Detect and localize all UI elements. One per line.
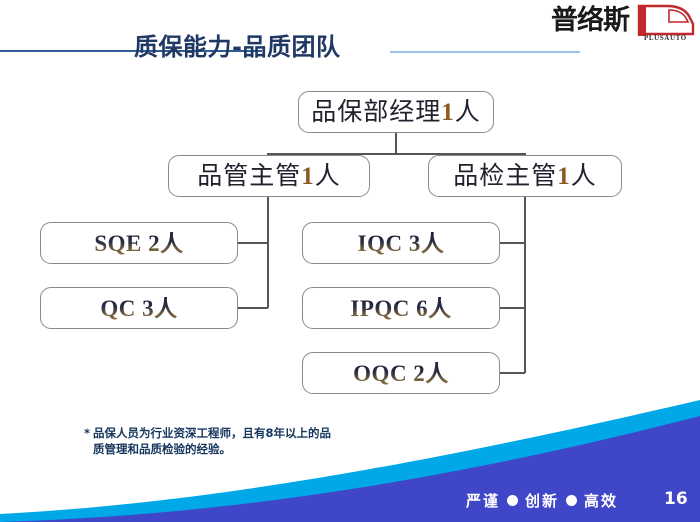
footer-slogan: 严谨 创新 高效: [466, 490, 618, 511]
connector-manager-down: [395, 132, 397, 154]
connector-qa-spine: [267, 196, 269, 308]
node-qc-label: QC 3人: [100, 297, 177, 320]
bullet-dot-icon: [507, 495, 518, 506]
slide-canvas: 质保能力-品质团队 普络斯 PLUSAUTO 品保部经理1人 品: [0, 0, 700, 522]
node-iqc-label: IQC 3人: [358, 232, 445, 255]
node-qc[interactable]: QC 3人: [40, 287, 238, 329]
node-inspection-supervisor[interactable]: 品检主管1人: [428, 155, 622, 197]
connector-stub-oqc: [499, 372, 525, 374]
connector-stub-ipqc: [499, 307, 525, 309]
org-chart: 品保部经理1人 品管主管1人 品检主管1人 SQE 2人 QC 3人 IQC 3…: [0, 0, 700, 410]
footer-slogan-3: 高效: [584, 490, 618, 511]
page-number: 16: [664, 489, 688, 509]
footer-slogan-1: 严谨: [466, 490, 500, 511]
node-ipqc[interactable]: IPQC 6人: [302, 287, 500, 329]
node-quality-manager[interactable]: 品保部经理1人: [298, 91, 494, 133]
connector-stub-qc: [237, 307, 268, 309]
node-qa-supervisor-label: 品管主管1人: [197, 164, 341, 189]
node-sqe-label: SQE 2人: [94, 232, 183, 255]
connector-stub-iqc: [499, 242, 525, 244]
node-ipqc-label: IPQC 6人: [350, 297, 451, 320]
node-sqe[interactable]: SQE 2人: [40, 222, 238, 264]
connector-stub-sqe: [237, 242, 268, 244]
node-iqc[interactable]: IQC 3人: [302, 222, 500, 264]
node-oqc-label: OQC 2人: [353, 362, 449, 385]
footer-slogan-2: 创新: [525, 490, 559, 511]
node-quality-manager-label: 品保部经理1人: [311, 100, 481, 125]
connector-inspect-spine: [524, 196, 526, 373]
bullet-dot-icon: [566, 495, 577, 506]
node-oqc[interactable]: OQC 2人: [302, 352, 500, 394]
node-inspection-supervisor-label: 品检主管1人: [453, 164, 597, 189]
node-qa-supervisor[interactable]: 品管主管1人: [168, 155, 370, 197]
